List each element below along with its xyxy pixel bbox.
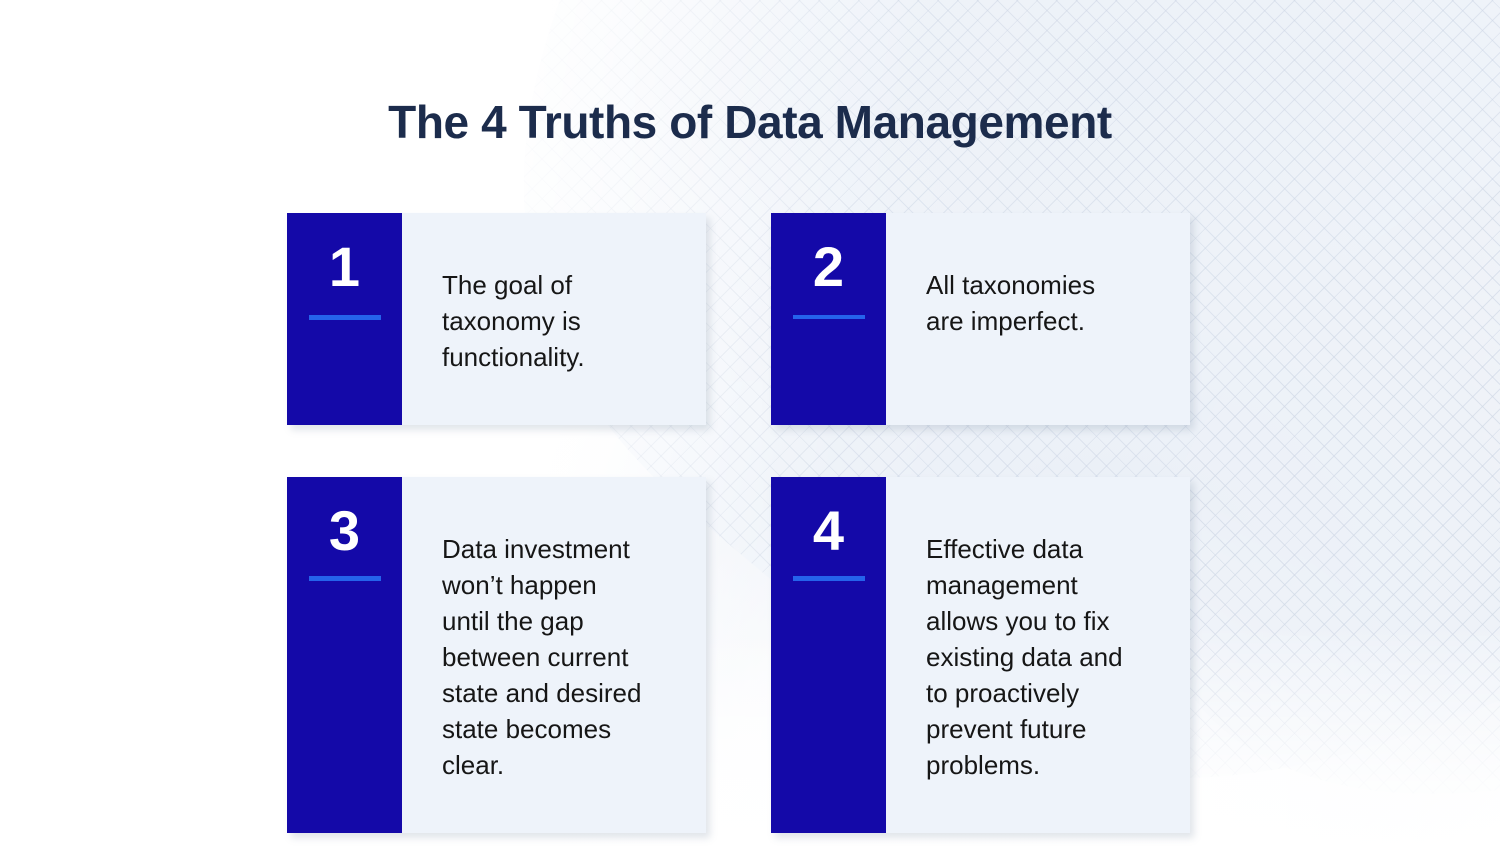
truth-card-4-rule: [793, 576, 865, 581]
slide-canvas: The 4 Truths of Data Management 1 The go…: [0, 0, 1500, 865]
truth-card-3-body: Data investment won’t happen until the g…: [402, 477, 706, 833]
truth-card-4-text: Effective data management allows you to …: [926, 531, 1172, 783]
truth-card-4-badge: 4: [771, 477, 886, 833]
truth-card-1-number: 1: [329, 239, 360, 295]
truths-row-2: 3 Data investment won’t happen until the…: [287, 477, 1193, 833]
truth-card-1-body: The goal of taxonomy is functionality.: [402, 213, 706, 425]
page-title: The 4 Truths of Data Management: [0, 95, 1500, 149]
truth-card-3-text: Data investment won’t happen until the g…: [442, 531, 688, 783]
truth-card-3[interactable]: 3 Data investment won’t happen until the…: [287, 477, 706, 833]
truth-card-2-rule: [793, 315, 865, 319]
truth-card-4[interactable]: 4 Effective data management allows you t…: [771, 477, 1190, 833]
truths-row-1: 1 The goal of taxonomy is functionality.…: [287, 213, 1193, 425]
truth-card-3-rule: [309, 576, 381, 581]
truth-card-1-rule: [309, 315, 381, 320]
truth-card-4-body: Effective data management allows you to …: [886, 477, 1190, 833]
truth-card-1-badge: 1: [287, 213, 402, 425]
truth-card-2-number: 2: [813, 239, 844, 295]
truth-card-2[interactable]: 2 All taxonomies are imperfect.: [771, 213, 1190, 425]
truths-grid: 1 The goal of taxonomy is functionality.…: [287, 213, 1193, 833]
truth-card-3-number: 3: [329, 503, 360, 559]
truth-card-3-badge: 3: [287, 477, 402, 833]
truth-card-2-badge: 2: [771, 213, 886, 425]
truth-card-1[interactable]: 1 The goal of taxonomy is functionality.: [287, 213, 706, 425]
truth-card-2-body: All taxonomies are imperfect.: [886, 213, 1190, 425]
truth-card-4-number: 4: [813, 503, 844, 559]
truth-card-1-text: The goal of taxonomy is functionality.: [442, 267, 688, 375]
truth-card-2-text: All taxonomies are imperfect.: [926, 267, 1172, 339]
